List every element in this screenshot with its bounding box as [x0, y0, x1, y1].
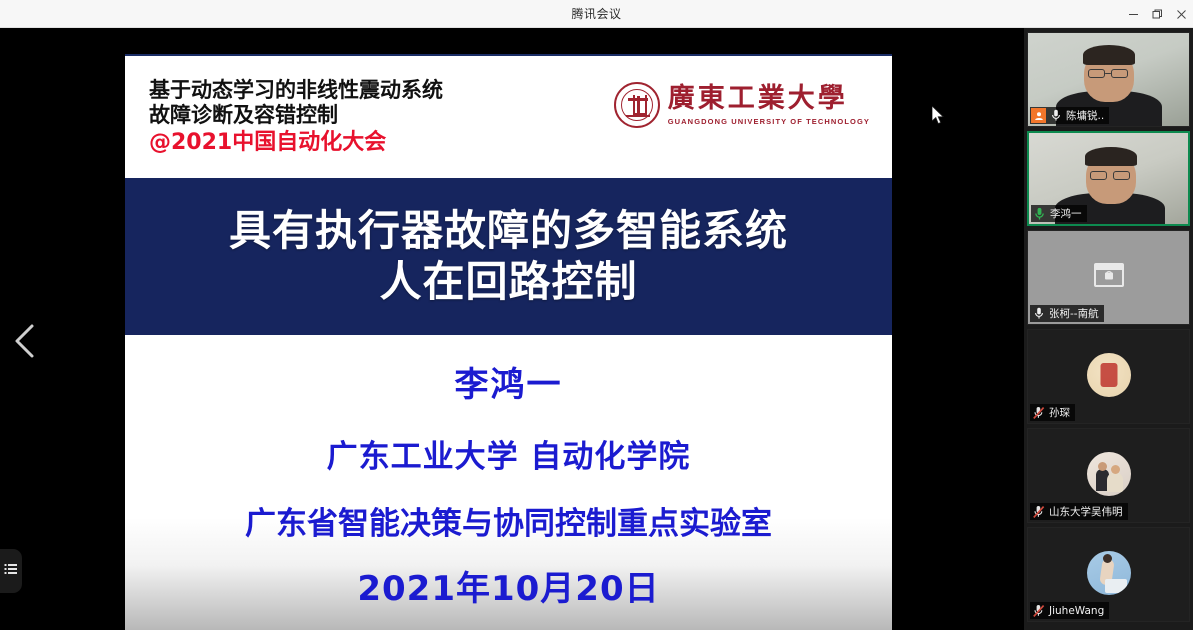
slide-header-text: 基于动态学习的非线性震动系统 故障诊断及容错控制 @2021中国自动化大会 [149, 78, 443, 155]
previous-slide-arrow[interactable] [8, 318, 42, 364]
avatar [1087, 551, 1131, 595]
participant-name: JiuheWang [1047, 605, 1104, 617]
avatar [1087, 452, 1131, 496]
participant-tile[interactable]: 张柯--南航 [1027, 230, 1190, 325]
university-crest-icon [614, 82, 660, 128]
participant-tile[interactable]: 孙琛 [1027, 329, 1190, 424]
microphone-icon [1030, 306, 1047, 321]
microphone-active-icon [1031, 206, 1048, 221]
participant-badge: JiuheWang [1030, 602, 1109, 619]
microphone-muted-icon [1030, 603, 1047, 618]
window-title: 腾讯会议 [571, 5, 621, 22]
slide-affiliation: 广东工业大学 自动化学院 [327, 431, 691, 476]
participant-name: 孙琛 [1047, 405, 1070, 420]
university-name-en: GUANGDONG UNIVERSITY OF TECHNOLOGY [668, 117, 870, 126]
slide-body: 李鸿一 广东工业大学 自动化学院 广东省智能决策与协同控制重点实验室 2021年… [125, 335, 892, 630]
window-title-bar: 腾讯会议 [0, 0, 1193, 28]
slide-title-line2: 人在回路控制 [379, 258, 637, 307]
microphone-muted-icon [1030, 504, 1047, 519]
slide-presenter-name: 李鸿一 [455, 357, 563, 406]
slide-header: 基于动态学习的非线性震动系统 故障诊断及容错控制 @2021中国自动化大会 廣東… [125, 56, 892, 178]
mouse-cursor [932, 106, 946, 131]
locked-screen-icon [1094, 263, 1124, 287]
restore-button[interactable] [1145, 0, 1169, 28]
university-logo: 廣東工業大學 GUANGDONG UNIVERSITY OF TECHNOLOG… [614, 82, 870, 128]
slide-laboratory: 广东省智能决策与协同控制重点实验室 [245, 498, 772, 543]
slide-header-line1: 基于动态学习的非线性震动系统 [149, 78, 443, 103]
annotation-list-button[interactable] [0, 549, 22, 593]
slide-header-line2: 故障诊断及容错控制 [149, 103, 443, 128]
participant-badge: 山东大学吴伟明 [1030, 503, 1128, 520]
participant-name: 陈墉锐.. [1064, 108, 1104, 123]
university-name-cn: 廣東工業大學 [668, 85, 870, 112]
participant-tile[interactable]: 李鸿一 [1027, 131, 1190, 226]
meeting-stage: 基于动态学习的非线性震动系统 故障诊断及容错控制 @2021中国自动化大会 廣東… [0, 28, 1193, 630]
participant-name: 张柯--南航 [1047, 306, 1099, 321]
participant-badge: 陈墉锐.. [1030, 107, 1109, 124]
list-icon [4, 562, 18, 581]
participant-tile[interactable]: 山东大学吴伟明 [1027, 428, 1190, 523]
participant-tile[interactable]: 陈墉锐.. [1027, 32, 1190, 127]
window-controls [1121, 0, 1193, 28]
microphone-muted-icon [1030, 405, 1047, 420]
slide-date: 2021年10月20日 [357, 561, 659, 610]
participant-badge: 李鸿一 [1031, 205, 1087, 222]
shared-screen-slide[interactable]: 基于动态学习的非线性震动系统 故障诊断及容错控制 @2021中国自动化大会 廣東… [125, 54, 892, 630]
slide-title-line1: 具有执行器故障的多智能系统 [229, 207, 788, 256]
slide-header-line3: @2021中国自动化大会 [149, 130, 443, 156]
close-button[interactable] [1169, 0, 1193, 28]
participant-name: 山东大学吴伟明 [1047, 504, 1123, 519]
slide-title-banner: 具有执行器故障的多智能系统 人在回路控制 [125, 178, 892, 335]
participant-badge: 张柯--南航 [1030, 305, 1104, 322]
minimize-button[interactable] [1121, 0, 1145, 28]
participant-rail[interactable]: 陈墉锐.. 李鸿一 [1024, 28, 1193, 630]
host-icon [1031, 108, 1046, 123]
microphone-icon [1047, 108, 1064, 123]
participant-badge: 孙琛 [1030, 404, 1075, 421]
avatar [1087, 353, 1131, 397]
participant-name: 李鸿一 [1048, 206, 1082, 221]
university-logo-text: 廣東工業大學 GUANGDONG UNIVERSITY OF TECHNOLOG… [668, 85, 870, 126]
participant-tile[interactable]: JiuheWang [1027, 527, 1190, 622]
